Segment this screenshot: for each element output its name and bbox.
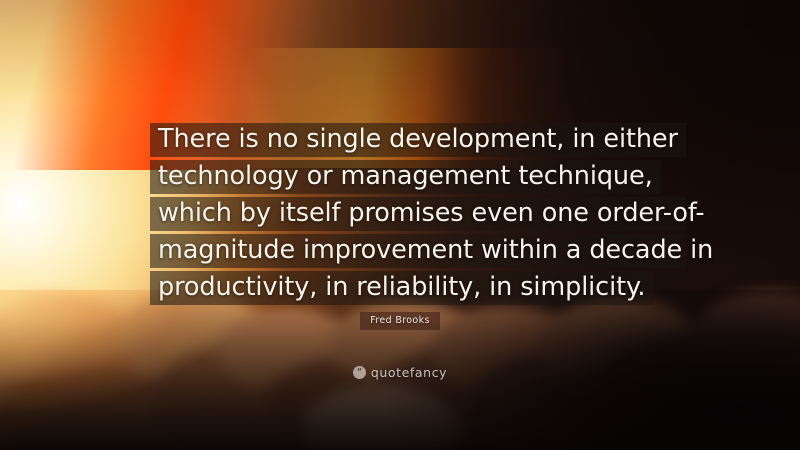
- author-attribution: Fred Brooks: [0, 308, 800, 330]
- quote-wallpaper: There is no single development, in eithe…: [0, 0, 800, 450]
- quote-line: There is no single development, in eithe…: [150, 123, 686, 157]
- quote-mark-glyph: “: [357, 368, 362, 376]
- quote-line: technology or management technique,: [150, 160, 661, 194]
- quote-line: magnitude improvement within a decade in: [150, 234, 686, 268]
- quote-line: productivity, in reliability, in simplic…: [150, 271, 653, 305]
- watermark: “ quotefancy: [0, 365, 800, 380]
- author-name: Fred Brooks: [360, 312, 440, 330]
- quote-mark-icon: “: [353, 366, 366, 379]
- quote-line: which by itself promises even one order-…: [150, 197, 686, 231]
- watermark-label: quotefancy: [371, 365, 447, 380]
- quote-text: There is no single development, in eithe…: [150, 123, 670, 308]
